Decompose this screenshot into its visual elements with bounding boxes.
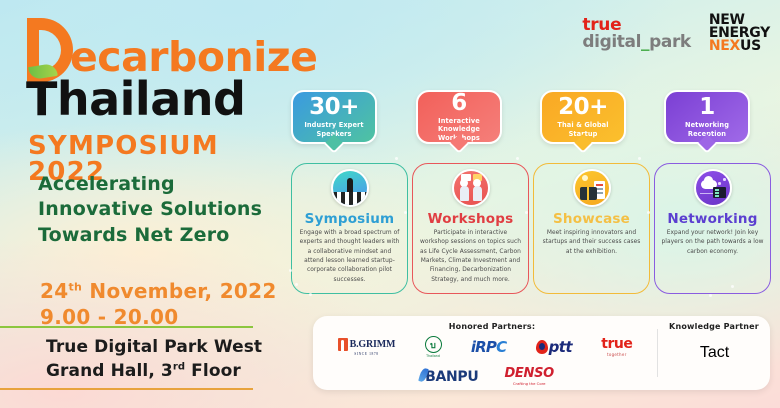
- cloud-network-icon: [694, 169, 732, 207]
- decorative-dot: [309, 293, 312, 296]
- card-body: Engage with a broad spectrum of experts …: [298, 229, 401, 285]
- program-pillar-cards: Symposium Engage with a broad spectrum o…: [291, 163, 773, 303]
- bgrimm-logo: B.GRIMM SINCE 1878: [338, 338, 396, 356]
- card-body: Meet inspiring innovators and startups a…: [540, 229, 643, 257]
- pillar-card-showcase: Showcase Meet inspiring innovators and s…: [533, 163, 650, 294]
- pillar-card-workshops: Workshops Participate in interactive wor…: [412, 163, 529, 294]
- decorative-dot: [404, 211, 407, 214]
- decorative-dot: [731, 285, 734, 288]
- card-title: Showcase: [533, 211, 650, 227]
- denso-name: DENSO: [504, 367, 553, 380]
- true-tagline: together: [607, 352, 627, 357]
- decorative-dot: [289, 269, 292, 272]
- card-body: Expand your network! Join key players on…: [661, 229, 764, 257]
- true-together-logo: true together: [601, 337, 632, 357]
- left-info-panel: ecarbonize Thailand SYMPOSIUM 2022 Accel…: [0, 0, 286, 408]
- ptt-name: ptt: [549, 338, 572, 356]
- bgrimm-name: B.GRIMM: [350, 339, 396, 350]
- chess-pawn-icon: [331, 169, 369, 207]
- divider-orange: [0, 388, 253, 390]
- ptt-logo: ptt: [536, 338, 572, 356]
- tagline-line-3: Towards Net Zero: [38, 223, 262, 248]
- sponsor-logo-bar: true digital_park NEW ENERGY NEXUS: [582, 14, 770, 53]
- card-title: Networking: [654, 211, 771, 227]
- stat-badge-workshops: 6 Interactive Knowledge Workshops: [416, 90, 502, 144]
- exhibition-booth-icon: [573, 169, 611, 207]
- denso-tagline: Crafting the Core: [513, 381, 546, 386]
- banpu-logo: BANPU: [420, 368, 478, 385]
- ptt-flame-icon: [536, 340, 548, 354]
- card-body: Participate in interactive workshop sess…: [419, 229, 522, 285]
- event-tagline: Accelerating Innovative Solutions Toward…: [38, 172, 262, 248]
- irpc-logo: iRPC: [471, 338, 507, 356]
- true-digital-park-logo: true digital_park: [582, 17, 690, 51]
- tact-logo: Tact: [662, 331, 766, 375]
- pillar-card-networking: Networking Expand your network! Join key…: [654, 163, 771, 294]
- poster-canvas: ecarbonize Thailand SYMPOSIUM 2022 Accel…: [0, 0, 780, 408]
- tagline-line-2: Innovative Solutions: [38, 197, 262, 222]
- tact-name: Tact: [700, 344, 729, 362]
- bgrimm-mark-icon: [338, 338, 348, 351]
- decorative-dot: [709, 294, 712, 297]
- honored-partners-section: Honored Partners: B.GRIMM SINCE 1878 บ T…: [313, 316, 657, 390]
- badge-number: 30+: [309, 96, 359, 119]
- banpu-name: BANPU: [425, 369, 478, 385]
- decorative-dot: [516, 157, 519, 160]
- stat-badge-speakers: 30+ Industry Expert Speakers: [291, 90, 377, 144]
- event-datetime: 24th November, 2022 9.00 - 20.00: [40, 278, 277, 331]
- bgrimm-since: SINCE 1878: [354, 352, 378, 356]
- decorative-dot: [638, 157, 641, 160]
- nen-line-3: NEXUS: [709, 40, 770, 53]
- partner-bar: Honored Partners: B.GRIMM SINCE 1878 บ T…: [313, 316, 770, 390]
- decorative-dot: [525, 211, 528, 214]
- decorative-dot: [647, 211, 650, 214]
- pillar-card-symposium: Symposium Engage with a broad spectrum o…: [291, 163, 408, 294]
- badge-number: 1: [699, 96, 715, 119]
- honored-partners-row-2: BANPU DENSO Crafting the Core: [321, 363, 653, 389]
- stat-badge-reception: 1 Networking Reception: [664, 90, 750, 144]
- denso-logo: DENSO Crafting the Core: [504, 367, 553, 386]
- new-energy-nexus-logo: NEW ENERGY NEXUS: [709, 14, 770, 53]
- event-date: 24th November, 2022: [40, 278, 277, 304]
- workshop-people-icon: [452, 169, 490, 207]
- wreath-partner-logo: บ Thailand: [425, 336, 442, 358]
- divider-green: [0, 326, 253, 328]
- decorative-dot: [395, 157, 398, 160]
- wreath-caption: Thailand: [426, 354, 440, 358]
- tagline-line-1: Accelerating: [38, 172, 262, 197]
- wreath-glyph-icon: บ: [425, 336, 442, 353]
- true-name: true: [601, 337, 632, 351]
- logo-thailand-text: Thailand: [26, 76, 245, 122]
- knowledge-partner-section: Knowledge Partner Tact: [658, 316, 770, 390]
- card-title: Symposium: [291, 211, 408, 227]
- venue-line-2: Grand Hall, 3rd Floor: [46, 360, 262, 384]
- event-venue: True Digital Park West Grand Hall, 3rd F…: [46, 336, 262, 384]
- badge-number: 6: [451, 92, 467, 115]
- card-title: Workshops: [412, 211, 529, 227]
- stat-badge-startups: 20+ Thai & Global Startup: [540, 90, 626, 144]
- honored-partners-row-1: B.GRIMM SINCE 1878 บ Thailand iRPC ptt t…: [317, 331, 653, 363]
- honored-partners-title: Honored Partners:: [331, 322, 653, 331]
- tdp-digital-park-text: digital_park: [582, 34, 690, 51]
- badge-number: 20+: [558, 96, 608, 119]
- stat-badge-row: 30+ Industry Expert Speakers 6 Interacti…: [291, 88, 771, 160]
- decorative-dot: [295, 283, 298, 286]
- venue-line-1: True Digital Park West: [46, 336, 262, 360]
- knowledge-partner-title: Knowledge Partner: [662, 322, 766, 331]
